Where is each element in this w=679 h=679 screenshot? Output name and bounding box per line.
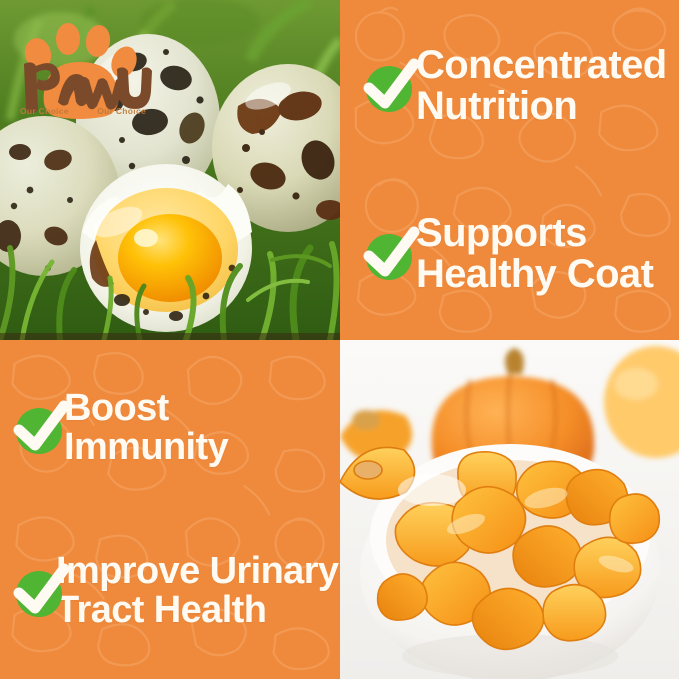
benefit-item-boost-immunity: Boost Immunity: [8, 389, 332, 467]
paw-up-logo: Our Choice Our Choice: [14, 22, 146, 126]
green-check-icon: [358, 56, 420, 118]
tagline-right: Our Choice: [97, 106, 146, 116]
benefit-item-supports-healthy-coat: Supports Healthy Coat: [358, 213, 671, 295]
quail-eggs-in-grass-photo: Our Choice Our Choice: [0, 0, 340, 340]
pumpkin-illustration: [340, 340, 679, 679]
benefit-list-bottom-left: Boost Immunity Improve Urinary Tract Hea…: [0, 340, 340, 679]
benefit-line-2: Immunity: [64, 426, 228, 468]
pumpkin-chunks-bowl-photo: [340, 340, 679, 679]
benefit-line-2: Healthy Coat: [416, 252, 653, 296]
tagline-left: Our Choice: [20, 106, 69, 116]
benefit-line-1: Boost: [64, 387, 169, 429]
green-check-icon: [358, 224, 420, 286]
infographic-collage: Our Choice Our Choice: [0, 0, 679, 679]
green-check-icon: [8, 561, 70, 623]
benefit-line-2: Tract Health: [56, 589, 266, 631]
benefit-item-concentrated-nutrition: Concentrated Nutrition: [358, 45, 671, 127]
benefit-text: Boost Immunity: [64, 389, 228, 467]
green-check-icon: [8, 398, 70, 460]
paw-up-tagline: Our Choice Our Choice: [20, 106, 146, 116]
benefit-text: Improve Urinary Tract Health: [56, 552, 338, 630]
benefits-panel-bottom-left: Boost Immunity Improve Urinary Tract Hea…: [0, 340, 340, 679]
benefit-text: Concentrated Nutrition: [416, 45, 667, 127]
benefit-line-2: Nutrition: [416, 84, 577, 128]
benefit-item-improve-urinary-tract-health: Improve Urinary Tract Health: [8, 552, 332, 630]
benefit-line-1: Concentrated: [416, 43, 667, 87]
benefit-list-top-right: Concentrated Nutrition Supports Healthy …: [340, 0, 679, 340]
benefit-text: Supports Healthy Coat: [416, 213, 653, 295]
benefit-line-1: Improve Urinary: [56, 550, 338, 592]
benefit-line-1: Supports: [416, 211, 587, 255]
benefits-panel-top-right: Concentrated Nutrition Supports Healthy …: [340, 0, 679, 340]
